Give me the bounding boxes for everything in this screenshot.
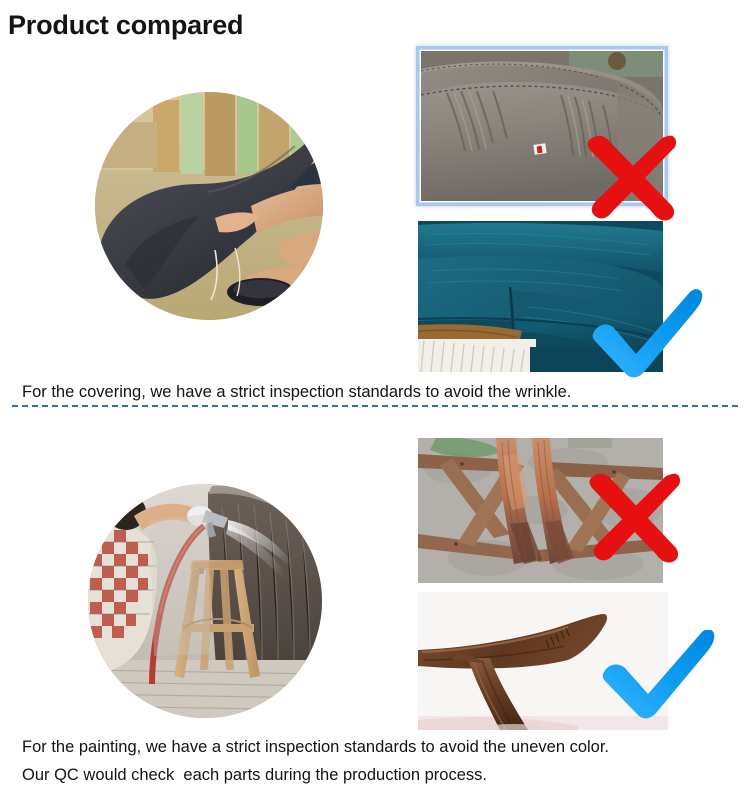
wooden-chair-frames-uneven-color-photo <box>418 438 663 583</box>
worker-fitting-dark-fabric-cover-photo <box>95 92 323 320</box>
photo-artwork <box>418 592 668 730</box>
worker-spray-painting-wooden-stool-photo <box>88 484 322 718</box>
painting-caption-line-1: For the painting, we have a strict inspe… <box>22 738 609 757</box>
grey-velvet-sofa-arm-with-wrinkles-photo <box>421 51 663 201</box>
page-title: Product compared <box>8 10 243 41</box>
painting-caption-line-2: Our QC would check each parts during the… <box>22 766 487 785</box>
photo-artwork <box>88 484 322 718</box>
photo-artwork <box>418 438 663 583</box>
product-comparison-page: Product compared <box>0 0 750 800</box>
teal-velvet-sofa-smooth-cushion-photo <box>418 221 663 372</box>
photo-artwork <box>418 221 663 372</box>
section-divider <box>12 405 738 407</box>
covering-caption: For the covering, we have a strict inspe… <box>22 383 571 402</box>
photo-artwork <box>95 92 323 320</box>
walnut-chair-joint-even-finish-photo <box>418 592 668 730</box>
photo-artwork <box>421 51 663 201</box>
